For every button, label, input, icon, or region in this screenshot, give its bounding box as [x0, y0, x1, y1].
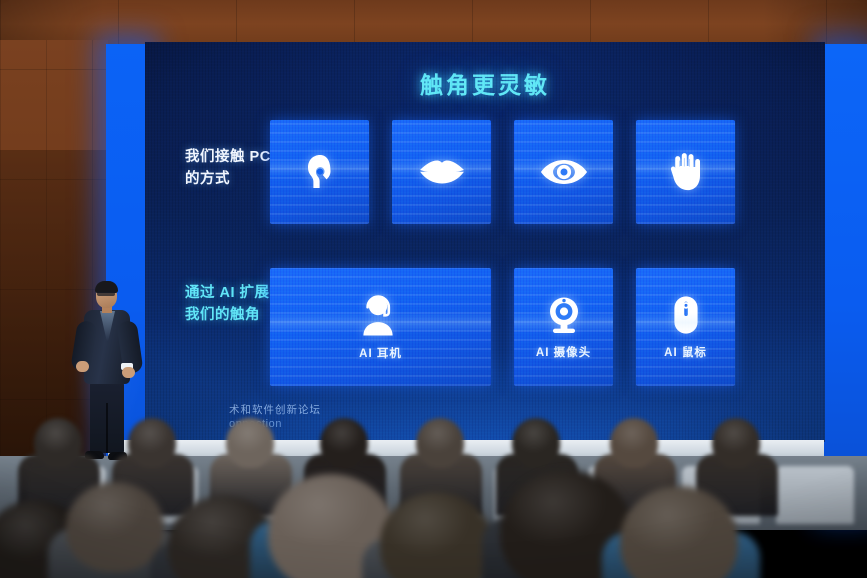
audience-person-head	[380, 492, 492, 578]
audience-person-head	[34, 418, 82, 468]
ai-devices-card-row: AI 耳机 AI 摄像头	[270, 268, 735, 386]
sense-card-touch	[636, 120, 735, 224]
sense-card-vision	[514, 120, 613, 224]
hand-icon	[669, 151, 703, 193]
senses-card-row	[270, 120, 735, 224]
presenter-glasses	[97, 292, 115, 296]
audience-person-head	[712, 418, 760, 468]
conference-photo-scene: 触角更灵敏 我们接触 PC 的方式 通过 AI 扩展 我们的触角	[0, 0, 867, 578]
ai-device-caption-mouse: AI 鼠标	[664, 344, 707, 360]
ai-device-caption-camera: AI 摄像头	[536, 344, 591, 360]
ai-device-card-headset: AI 耳机	[270, 268, 491, 386]
led-presentation-screen: 触角更灵敏 我们接触 PC 的方式 通过 AI 扩展 我们的触角	[145, 42, 825, 442]
audience-person-head	[620, 486, 738, 578]
audience-foreground	[0, 470, 867, 578]
audience-person-head	[416, 418, 464, 468]
person-headset-icon	[358, 294, 404, 336]
ai-device-caption-headset: AI 耳机	[359, 345, 402, 361]
audience-person-head	[226, 418, 274, 468]
lips-icon	[418, 157, 466, 187]
audience-person-head	[610, 418, 658, 468]
sense-card-speech	[392, 120, 491, 224]
sense-card-hearing	[270, 120, 369, 224]
eye-icon	[540, 158, 588, 186]
presenter-hand-left	[76, 361, 89, 372]
presenter-hand-right	[122, 367, 135, 378]
audience-person-head	[128, 418, 176, 468]
ai-device-card-mouse: AI 鼠标	[636, 268, 735, 386]
mouse-icon	[673, 295, 699, 335]
audience-person-head	[512, 418, 560, 468]
ear-icon	[301, 152, 339, 192]
audience-person-head	[320, 418, 368, 468]
webcam-icon	[546, 295, 582, 335]
slide-title: 触角更灵敏	[145, 66, 825, 100]
ai-device-card-camera: AI 摄像头	[514, 268, 613, 386]
audience-person-head	[66, 482, 164, 572]
